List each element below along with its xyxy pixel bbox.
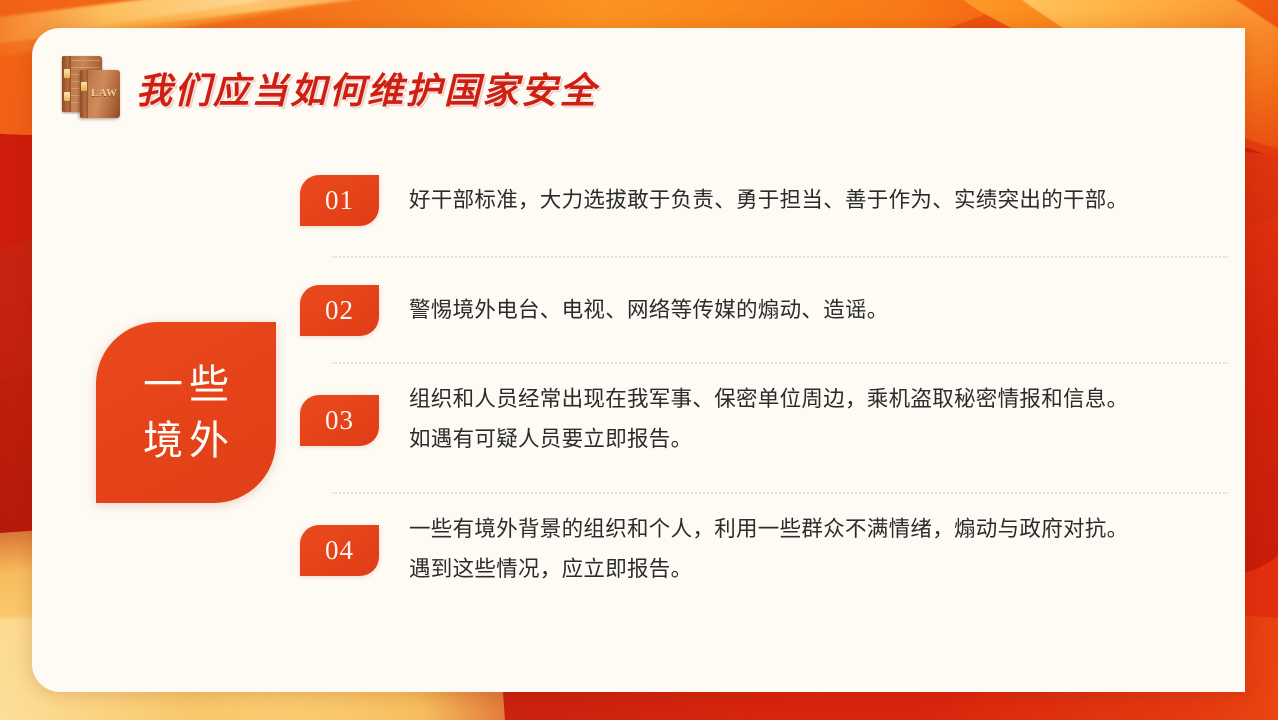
law-book-front: LAW <box>80 70 120 118</box>
item-text-line: 如遇有可疑人员要立即报告。 <box>409 420 1128 460</box>
item-text: 一些有境外背景的组织和个人，利用一些群众不满情绪，煽动与政府对抗。 遇到这些情况… <box>409 508 1128 590</box>
item-text-line: 一些有境外背景的组织和个人，利用一些群众不满情绪，煽动与政府对抗。 <box>409 510 1128 550</box>
law-books-icon: LAW <box>54 54 126 122</box>
book-clasp-icon <box>81 82 87 91</box>
book-clasp-top-icon <box>64 69 70 78</box>
item-separator <box>332 256 1228 258</box>
item-number-badge: 01 <box>300 175 379 226</box>
content-card: LAW 我们应当如何维护国家安全 一些 境外 01 好干部标准，大力选拔敢于负责… <box>32 28 1245 692</box>
page-title: 我们应当如何维护国家安全 <box>136 62 598 114</box>
section-label-badge: 一些 境外 <box>96 322 276 503</box>
item-text-line: 组织和人员经常出现在我军事、保密单位周边，乘机盗取秘密情报和信息。 <box>409 380 1128 420</box>
item-text-line: 遇到这些情况，应立即报告。 <box>409 550 1128 590</box>
item-text: 好干部标准，大力选拔敢于负责、勇于担当、善于作为、实绩突出的干部。 <box>409 179 1128 221</box>
list-item[interactable]: 03 组织和人员经常出现在我军事、保密单位周边，乘机盗取秘密情报和信息。 如遇有… <box>300 378 1208 478</box>
item-number-badge: 04 <box>300 525 379 576</box>
section-label-line1: 一些 <box>137 357 235 412</box>
list-item[interactable]: 01 好干部标准，大力选拔敢于负责、勇于担当、善于作为、实绩突出的干部。 <box>300 162 1208 238</box>
slide-header: LAW 我们应当如何维护国家安全 <box>54 54 598 122</box>
item-separator <box>332 362 1228 364</box>
section-label-line2: 境外 <box>137 413 235 468</box>
list-item[interactable]: 02 警惕境外电台、电视、网络等传媒的煽动、造谣。 <box>300 272 1208 348</box>
item-number-badge: 02 <box>300 285 379 336</box>
item-number-badge: 03 <box>300 395 379 446</box>
item-text: 警惕境外电台、电视、网络等传媒的煽动、造谣。 <box>409 289 889 331</box>
item-text-line: 好干部标准，大力选拔敢于负责、勇于担当、善于作为、实绩突出的干部。 <box>409 181 1128 221</box>
items-list: 01 好干部标准，大力选拔敢于负责、勇于担当、善于作为、实绩突出的干部。 02 … <box>300 162 1208 608</box>
law-book-label: LAW <box>91 87 118 99</box>
item-text-line: 警惕境外电台、电视、网络等传媒的煽动、造谣。 <box>409 291 889 331</box>
item-text: 组织和人员经常出现在我军事、保密单位周边，乘机盗取秘密情报和信息。 如遇有可疑人… <box>409 378 1128 460</box>
book-clasp-bottom-icon <box>64 92 70 101</box>
item-separator <box>332 492 1228 494</box>
list-item[interactable]: 04 一些有境外背景的组织和个人，利用一些群众不满情绪，煽动与政府对抗。 遇到这… <box>300 508 1208 608</box>
